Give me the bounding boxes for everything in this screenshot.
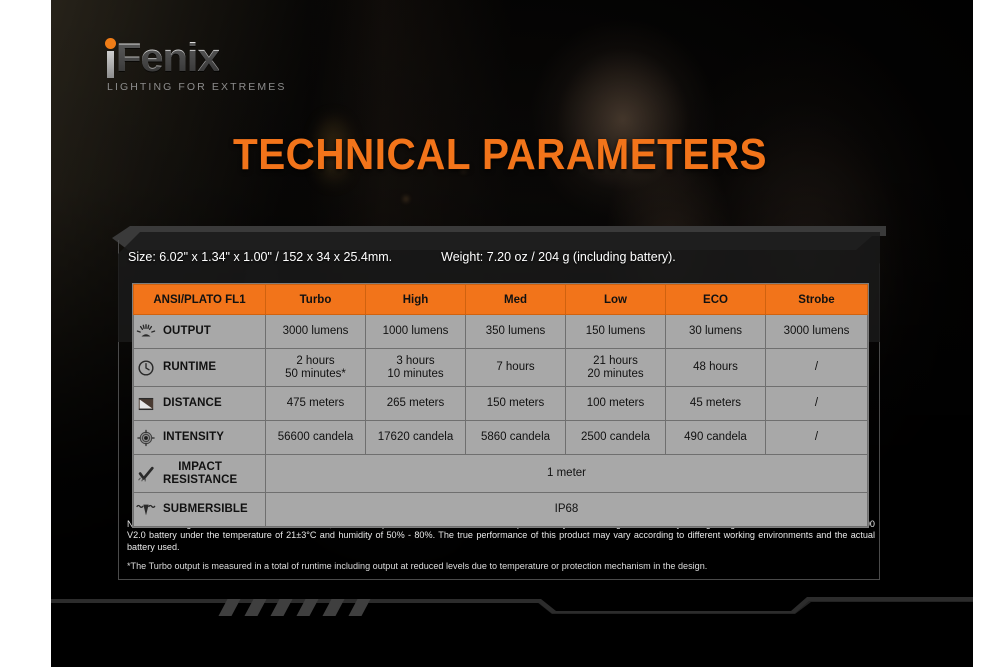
table-cell-spanned: IP68 — [266, 493, 868, 527]
table-row: DISTANCE475 meters265 meters150 meters10… — [134, 387, 868, 421]
technical-parameters-table: ANSI/PLATO FL1 Turbo High Med Low ECO St… — [133, 284, 868, 527]
row-label-runtime: RUNTIME — [134, 349, 266, 387]
submersible-waves-icon — [136, 501, 156, 519]
table-cell: 56600 candela — [266, 421, 366, 455]
table-cell: 1000 lumens — [366, 315, 466, 349]
intensity-target-icon — [136, 429, 156, 447]
row-label-distance: DISTANCE — [134, 387, 266, 421]
size-text: Size: 6.02" x 1.34" x 1.00" / 152 x 34 x… — [128, 250, 392, 264]
table-row: RUNTIME2 hours50 minutes*3 hours10 minut… — [134, 349, 868, 387]
row-label-output: OUTPUT — [134, 315, 266, 349]
table-cell: 30 lumens — [666, 315, 766, 349]
table-cell: / — [766, 349, 868, 387]
table-row: INTENSITY56600 candela17620 candela5860 … — [134, 421, 868, 455]
technical-parameters-banner: Fenix LIGHTING FOR EXTREMES TECHNICAL PA… — [0, 0, 1000, 667]
table-cell: 150 lumens — [566, 315, 666, 349]
table-cell: 475 meters — [266, 387, 366, 421]
column-header-strobe: Strobe — [766, 285, 868, 315]
table-cell: 350 lumens — [466, 315, 566, 349]
table-row: SUBMERSIBLEIP68 — [134, 493, 868, 527]
footnote-turbo: *The Turbo output is measured in a total… — [127, 561, 875, 572]
table-cell: 48 hours — [666, 349, 766, 387]
deco-outline-bar — [51, 597, 973, 613]
table-cell: 17620 candela — [366, 421, 466, 455]
table-cell: 490 candela — [666, 421, 766, 455]
table-cell: 3000 lumens — [766, 315, 868, 349]
column-header-high: High — [366, 285, 466, 315]
row-label-text: SUBMERSIBLE — [163, 503, 248, 516]
fenix-logo: Fenix LIGHTING FOR EXTREMES — [105, 38, 286, 93]
row-label-text: IMPACTRESISTANCE — [163, 461, 237, 486]
table-cell: 5860 candela — [466, 421, 566, 455]
table-row: IMPACTRESISTANCE1 meter — [134, 455, 868, 493]
row-label-text: INTENSITY — [163, 431, 224, 444]
column-header-ansi: ANSI/PLATO FL1 — [134, 285, 266, 315]
clock-icon — [136, 359, 156, 377]
bokeh-fleck — [403, 196, 409, 202]
table-cell: / — [766, 421, 868, 455]
table-cell: 100 meters — [566, 387, 666, 421]
table-cell: 21 hours20 minutes — [566, 349, 666, 387]
row-label-intensity: INTENSITY — [134, 421, 266, 455]
output-rays-icon — [136, 323, 156, 341]
table-cell: / — [766, 387, 868, 421]
row-label-text: OUTPUT — [163, 325, 211, 338]
table-cell: 45 meters — [666, 387, 766, 421]
logo-tagline: LIGHTING FOR EXTREMES — [107, 81, 286, 93]
row-label-text: DISTANCE — [163, 397, 222, 410]
page-title: TECHNICAL PARAMETERS — [40, 132, 960, 178]
column-header-eco: ECO — [666, 285, 766, 315]
table-row: OUTPUT3000 lumens1000 lumens350 lumens15… — [134, 315, 868, 349]
table-cell: 7 hours — [466, 349, 566, 387]
table-cell: 2 hours50 minutes* — [266, 349, 366, 387]
table-header-row: ANSI/PLATO FL1 Turbo High Med Low ECO St… — [134, 285, 868, 315]
table-cell: 265 meters — [366, 387, 466, 421]
column-header-med: Med — [466, 285, 566, 315]
size-weight-line: Size: 6.02" x 1.34" x 1.00" / 152 x 34 x… — [128, 250, 676, 264]
table-cell: 2500 candela — [566, 421, 666, 455]
logo-wordmark-row: Fenix — [105, 38, 286, 78]
row-label-impact: IMPACTRESISTANCE — [134, 455, 266, 493]
table-body: OUTPUT3000 lumens1000 lumens350 lumens15… — [134, 315, 868, 527]
row-label-submersible: SUBMERSIBLE — [134, 493, 266, 527]
impact-drop-icon — [136, 465, 156, 483]
table-cell: 3000 lumens — [266, 315, 366, 349]
table-cell: 3 hours10 minutes — [366, 349, 466, 387]
logo-wordmark: Fenix — [116, 38, 219, 78]
row-label-text: RUNTIME — [163, 361, 216, 374]
column-header-low: Low — [566, 285, 666, 315]
table-cell-spanned: 1 meter — [266, 455, 868, 493]
logo-i-letter-icon — [105, 38, 116, 78]
weight-text: Weight: 7.20 oz / 204 g (including batte… — [441, 250, 676, 264]
table-cell: 150 meters — [466, 387, 566, 421]
column-header-turbo: Turbo — [266, 285, 366, 315]
bottom-decoration — [51, 585, 973, 631]
beam-distance-icon — [136, 395, 156, 413]
